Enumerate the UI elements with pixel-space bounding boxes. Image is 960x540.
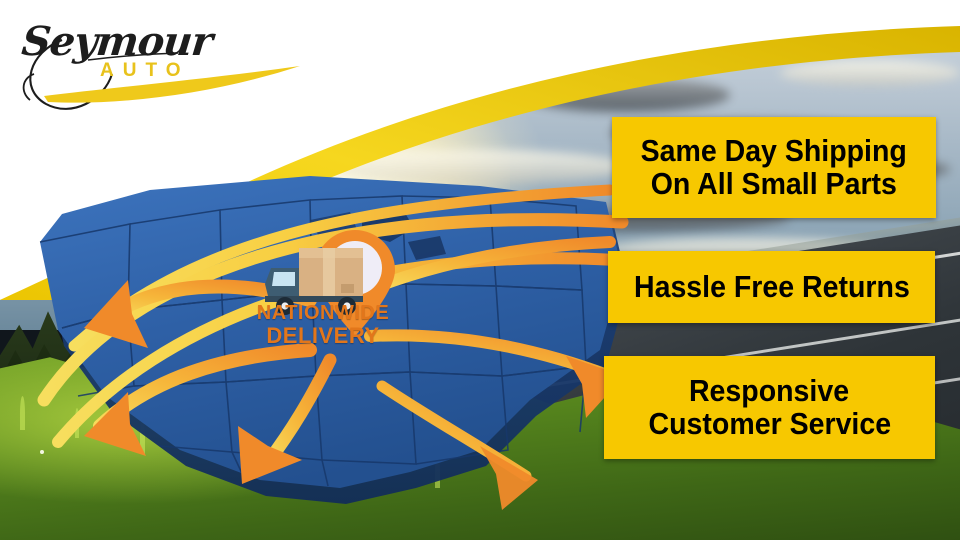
promo-line: Responsive <box>689 375 849 408</box>
promo-line: Same Day Shipping <box>641 135 907 168</box>
promo-line: Customer Service <box>648 408 891 441</box>
promo-line: On All Small Parts <box>651 168 897 201</box>
promo-banner: Seymour AUTO <box>0 0 960 540</box>
brand-subname: AUTO <box>100 60 189 82</box>
promo-box-same-day-shipping[interactable]: Same Day Shipping On All Small Parts <box>612 117 936 218</box>
nationwide-line-1: NATIONWIDE <box>248 303 398 323</box>
nationwide-line-2: DELIVERY <box>248 325 398 347</box>
brand-logo[interactable]: Seymour AUTO <box>0 0 330 130</box>
promo-line: Hassle Free Returns <box>634 271 910 304</box>
promo-box-hassle-free-returns[interactable]: Hassle Free Returns <box>608 251 935 323</box>
nationwide-delivery-label: NATIONWIDE DELIVERY <box>248 303 398 347</box>
promo-box-responsive-customer-service[interactable]: Responsive Customer Service <box>604 356 935 459</box>
brand-name: Seymour <box>20 18 215 65</box>
